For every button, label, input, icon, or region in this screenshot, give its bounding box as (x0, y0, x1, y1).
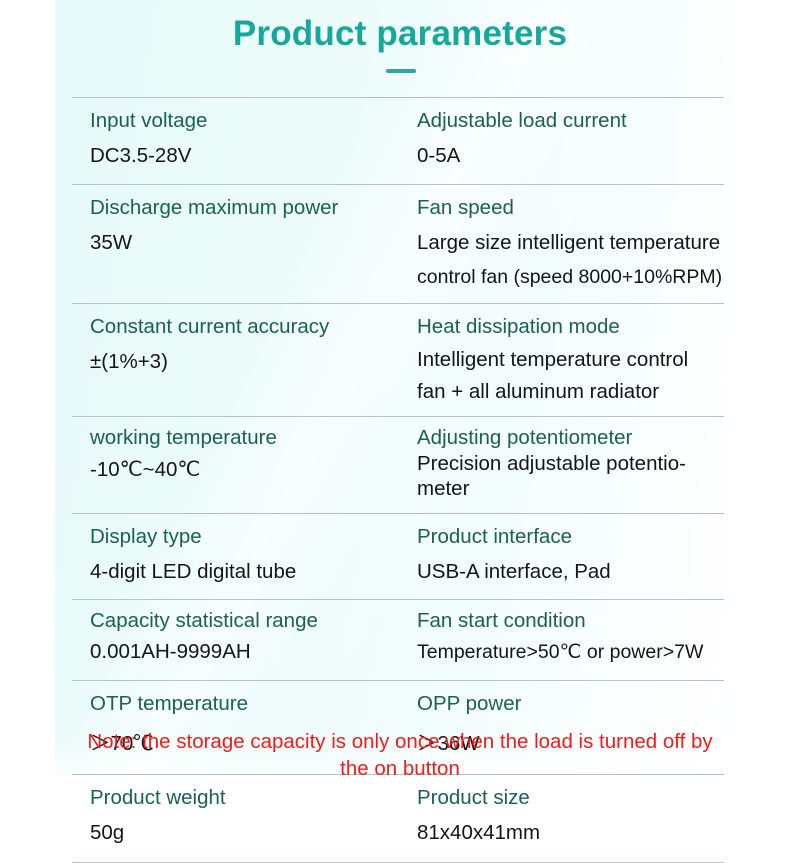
table-row: Input voltage DC3.5-28V Adjustable load … (72, 97, 724, 184)
parameter-value: ±(1%+3) (90, 349, 417, 376)
parameter-value: 35W (90, 230, 417, 257)
parameter-label: Fan start condition (417, 607, 724, 634)
parameter-label: Product weight (90, 784, 417, 811)
table-cell-right: Adjustable load current 0-5A (417, 98, 724, 170)
footer-note: Note: the storage capacity is only once … (72, 728, 728, 783)
parameter-value: DC3.5-28V (90, 143, 417, 170)
footer-note-line2: the on button (72, 755, 728, 782)
parameter-value: Precision adjustable potentio- (417, 453, 724, 476)
parameter-label: Constant current accuracy (90, 313, 417, 340)
parameter-label: Fan speed (417, 194, 724, 221)
parameter-value-line2: fan + all aluminum radiator (417, 381, 724, 404)
parameter-label: OPP power (417, 690, 724, 717)
table-cell-left: working temperature -10℃~40℃ (72, 417, 417, 501)
table-row: Discharge maximum power 35W Fan speed La… (72, 184, 724, 303)
parameter-value: USB-A interface, Pad (417, 559, 724, 586)
table-cell-right: Fan start condition Temperature>50℃ or p… (417, 600, 724, 666)
parameter-label: OTP temperature (90, 690, 417, 717)
parameter-label: Heat dissipation mode (417, 313, 724, 340)
table-row: Product weight 50g Product size 81x40x41… (72, 774, 724, 863)
table-row: working temperature -10℃~40℃ Adjusting p… (72, 416, 724, 513)
product-parameters-page: Product parameters Input voltage DC3.5-2… (0, 0, 800, 800)
parameter-value-line2: control fan (speed 8000+10%RPM) (417, 265, 724, 290)
table-cell-right: Product size 81x40x41mm (417, 775, 724, 847)
parameter-label: working temperature (90, 424, 417, 451)
table-cell-left: Input voltage DC3.5-28V (72, 98, 417, 170)
parameter-value: Temperature>50℃ or power>7W (417, 640, 724, 665)
title-underline-rule (386, 69, 416, 73)
table-cell-right: Heat dissipation mode Intelligent temper… (417, 304, 724, 404)
table-row: Capacity statistical range 0.001AH-9999A… (72, 599, 724, 680)
parameter-value-line2: meter (417, 478, 724, 501)
footer-note-line1: Note: the storage capacity is only once … (87, 730, 712, 753)
parameter-label: Input voltage (90, 107, 417, 134)
parameter-label: Product size (417, 784, 724, 811)
parameter-value: 0.001AH-9999AH (90, 639, 417, 666)
table-cell-left: Capacity statistical range 0.001AH-9999A… (72, 600, 417, 666)
parameter-value: 4-digit LED digital tube (90, 559, 417, 586)
parameter-label: Adjusting potentiometer (417, 424, 724, 451)
parameter-value: Intelligent temperature control (417, 349, 724, 372)
parameter-label: Capacity statistical range (90, 607, 417, 634)
table-row: Constant current accuracy ±(1%+3) Heat d… (72, 303, 724, 416)
table-cell-right: Adjusting potentiometer Precision adjust… (417, 417, 724, 501)
table-cell-right: Product interface USB-A interface, Pad (417, 514, 724, 586)
table-row: Display type 4-digit LED digital tube Pr… (72, 513, 724, 600)
parameter-label: Discharge maximum power (90, 194, 417, 221)
parameter-label: Display type (90, 523, 417, 550)
parameter-value: Large size intelligent temperature (417, 230, 724, 257)
table-cell-left: Discharge maximum power 35W (72, 185, 417, 291)
table-cell-left: Display type 4-digit LED digital tube (72, 514, 417, 586)
table-cell-left: Constant current accuracy ±(1%+3) (72, 304, 417, 404)
table-cell-right: Fan speed Large size intelligent tempera… (417, 185, 724, 291)
parameter-value: 50g (90, 820, 417, 847)
parameter-value: -10℃~40℃ (90, 457, 417, 484)
parameter-label: Product interface (417, 523, 724, 550)
parameter-label: Adjustable load current (417, 107, 724, 134)
parameter-value: 0-5A (417, 143, 724, 170)
page-title: Product parameters (0, 14, 800, 54)
parameter-value: 81x40x41mm (417, 820, 724, 847)
table-cell-left: Product weight 50g (72, 775, 417, 847)
